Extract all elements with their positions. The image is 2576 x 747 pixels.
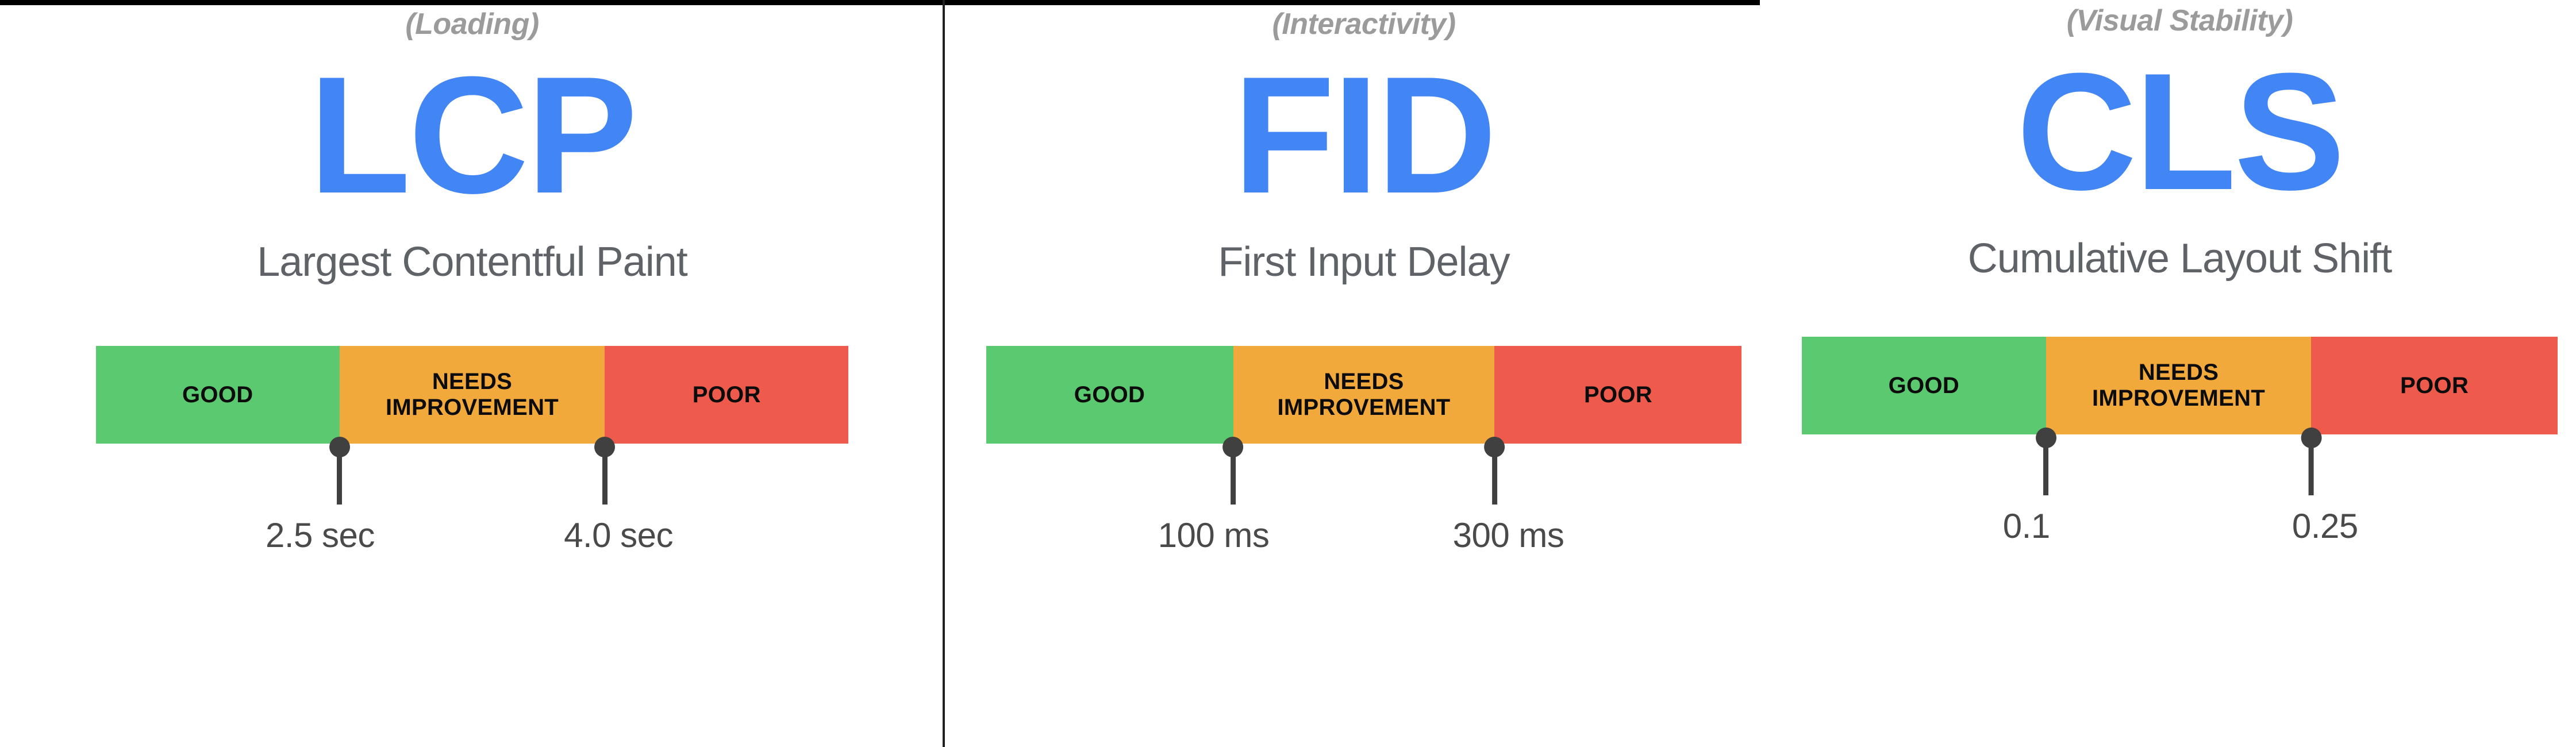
metric-acronym: LCP (309, 52, 636, 218)
pin-stem-icon (1231, 456, 1236, 505)
metric-category-label: (Visual Stability) (2067, 6, 2293, 36)
segment-needs-improvement-label: NEEDSIMPROVEMENT (2092, 360, 2265, 411)
metric-full-name: First Input Delay (1218, 241, 1509, 283)
segment-good: GOOD (986, 346, 1233, 444)
segment-needs-improvement: NEEDSIMPROVEMENT (1233, 346, 1495, 444)
segment-poor: POOR (605, 346, 848, 444)
pin-stem-icon (2043, 447, 2048, 495)
segment-good: GOOD (1802, 337, 2046, 434)
metric-full-name: Cumulative Layout Shift (1968, 238, 2392, 279)
threshold-pin-lower: 100 ms (1178, 437, 1289, 553)
segment-poor-label: POOR (1584, 382, 1652, 408)
metric-acronym: CLS (2017, 48, 2343, 215)
threshold-pin-upper: 4.0 sec (550, 437, 659, 553)
threshold-pin-lower: 0.1 (2023, 428, 2070, 544)
segment-needs-improvement: NEEDSIMPROVEMENT (340, 346, 605, 444)
pin-stem-icon (337, 456, 342, 505)
metric-category-label: (Loading) (405, 9, 539, 39)
metric-category-label: (Interactivity) (1272, 9, 1455, 39)
threshold-value: 4.0 sec (564, 518, 673, 553)
metric-panel-lcp: (Loading) LCP Largest Contentful Paint G… (0, 0, 944, 747)
threshold-pin-upper: 0.25 (2278, 428, 2344, 544)
threshold-bar-area-fid: GOOD NEEDSIMPROVEMENT POOR 100 ms 300 ms (986, 346, 1742, 444)
threshold-value: 0.1 (2003, 509, 2050, 544)
segment-good-label: GOOD (182, 382, 253, 408)
threshold-pin-lower: 2.5 sec (285, 437, 394, 553)
segment-poor-label: POOR (2400, 373, 2469, 399)
pin-stem-icon (1492, 456, 1497, 505)
segment-poor: POOR (2311, 337, 2558, 434)
segment-needs-improvement-label: NEEDSIMPROVEMENT (1277, 369, 1450, 421)
core-web-vitals-panels: (Loading) LCP Largest Contentful Paint G… (0, 0, 2576, 747)
metric-panel-cls: (Visual Stability) CLS Cumulative Layout… (1783, 0, 2576, 747)
pin-stem-icon (2309, 447, 2314, 495)
segment-good-label: GOOD (1889, 373, 1959, 399)
segment-poor: POOR (1494, 346, 1741, 444)
threshold-bar: GOOD NEEDSIMPROVEMENT POOR (1802, 337, 2558, 434)
threshold-bar-area-lcp: GOOD NEEDSIMPROVEMENT POOR 2.5 sec 4.0 s… (96, 346, 849, 444)
metric-full-name: Largest Contentful Paint (257, 241, 687, 283)
threshold-bar-area-cls: GOOD NEEDSIMPROVEMENT POOR 0.1 0.25 (1802, 337, 2558, 434)
segment-good-label: GOOD (1074, 382, 1145, 408)
segment-good: GOOD (96, 346, 340, 444)
threshold-bar: GOOD NEEDSIMPROVEMENT POOR (986, 346, 1742, 444)
pin-stem-icon (602, 456, 608, 505)
threshold-value: 300 ms (1453, 518, 1564, 553)
metric-acronym: FID (1233, 52, 1494, 218)
segment-needs-improvement-label: NEEDSIMPROVEMENT (386, 369, 559, 421)
threshold-value: 100 ms (1158, 518, 1270, 553)
segment-poor-label: POOR (693, 382, 761, 408)
metric-panel-fid: (Interactivity) FID First Input Delay GO… (944, 0, 1783, 747)
threshold-value: 2.5 sec (266, 518, 375, 553)
segment-needs-improvement: NEEDSIMPROVEMENT (2046, 337, 2312, 434)
threshold-pin-upper: 300 ms (1439, 437, 1551, 553)
threshold-value: 0.25 (2292, 509, 2358, 544)
threshold-bar: GOOD NEEDSIMPROVEMENT POOR (96, 346, 849, 444)
